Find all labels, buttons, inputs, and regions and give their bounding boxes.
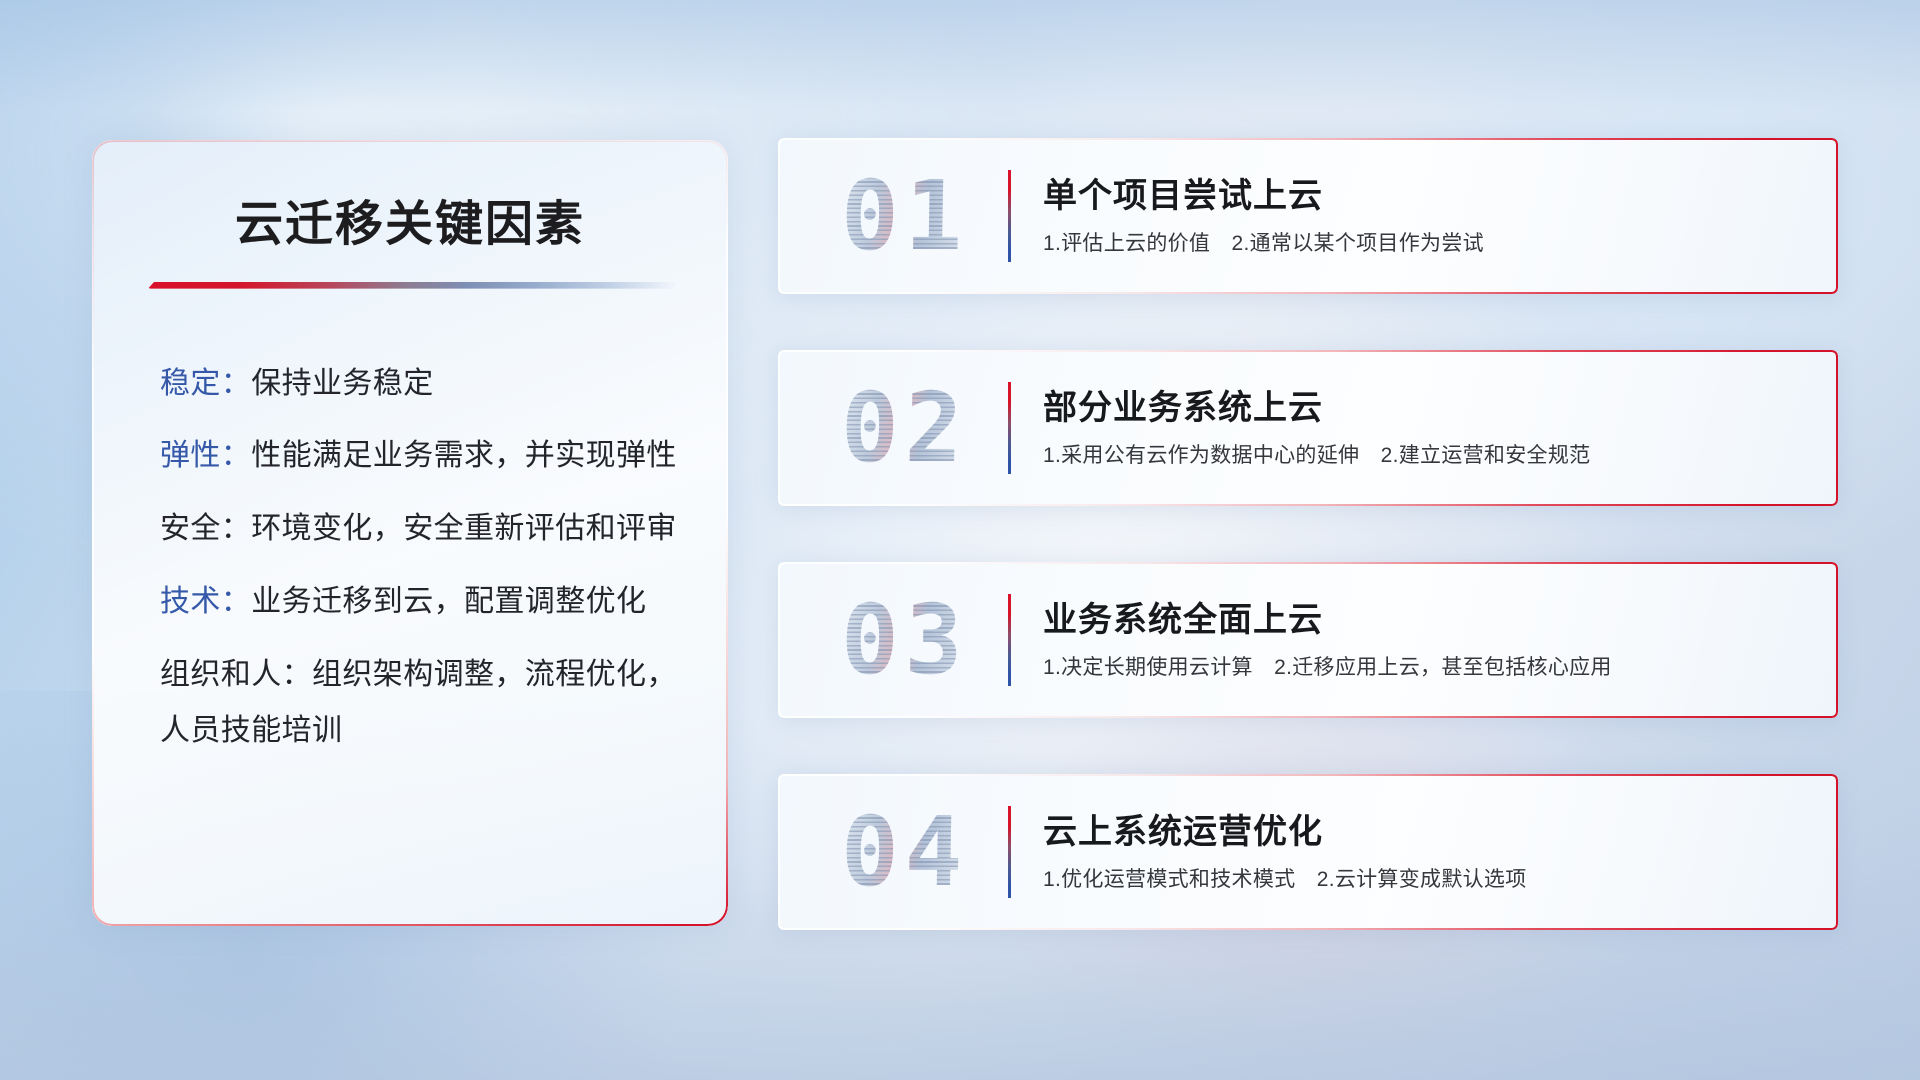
stage-number: 01	[840, 168, 969, 264]
stage-number-container: 01	[778, 168, 1008, 264]
key-factor-label: 安全：	[160, 512, 251, 545]
stage-title: 单个项目尝试上云	[1043, 175, 1808, 218]
key-factor-label: 技术：	[160, 585, 251, 618]
key-factor-label: 稳定：	[160, 367, 251, 400]
background-top-shade	[0, 0, 1920, 108]
migration-stage-card[interactable]: 03业务系统全面上云1.决定长期使用云计算 2.迁移应用上云，甚至包括核心应用	[778, 562, 1838, 718]
stage-text-block: 单个项目尝试上云1.评估上云的价值 2.通常以某个项目作为尝试	[1043, 175, 1838, 258]
stage-description: 1.优化运营模式和技术模式 2.云计算变成默认选项	[1043, 866, 1808, 893]
key-factor-label: 组织和人：	[160, 658, 312, 691]
stage-number-container: 02	[778, 380, 1008, 476]
stage-text-block: 业务系统全面上云1.决定长期使用云计算 2.迁移应用上云，甚至包括核心应用	[1043, 599, 1838, 682]
migration-stage-card[interactable]: 04云上系统运营优化1.优化运营模式和技术模式 2.云计算变成默认选项	[778, 774, 1838, 930]
stage-description: 1.决定长期使用云计算 2.迁移应用上云，甚至包括核心应用	[1043, 654, 1808, 681]
key-factor-value: 环境变化，安全重新评估和评审	[251, 512, 677, 545]
key-factors-panel: 云迁移关键因素 稳定：保持业务稳定弹性：性能满足业务需求，并实现弹性安全：环境变…	[92, 140, 728, 926]
stage-number: 04	[840, 804, 969, 900]
key-factor-label: 弹性：	[160, 439, 251, 472]
migration-stages-list: 01单个项目尝试上云1.评估上云的价值 2.通常以某个项目作为尝试02部分业务系…	[778, 138, 1838, 930]
stage-description: 1.评估上云的价值 2.通常以某个项目作为尝试	[1043, 230, 1808, 257]
key-factor-item: 组织和人：组织架构调整，流程优化，	[160, 656, 678, 694]
key-factor-value: 业务迁移到云，配置调整优化	[251, 585, 646, 618]
stage-accent-divider	[1008, 170, 1011, 262]
stage-accent-divider	[1008, 382, 1011, 474]
stage-text-block: 部分业务系统上云1.采用公有云作为数据中心的延伸 2.建立运营和安全规范	[1043, 387, 1838, 470]
stage-accent-divider	[1008, 594, 1011, 686]
stage-title: 业务系统全面上云	[1043, 599, 1808, 642]
key-factors-list: 稳定：保持业务稳定弹性：性能满足业务需求，并实现弹性安全：环境变化，安全重新评估…	[142, 365, 678, 750]
page-title: 云迁移关键因素	[142, 196, 678, 254]
migration-stage-card[interactable]: 01单个项目尝试上云1.评估上云的价值 2.通常以某个项目作为尝试	[778, 138, 1838, 294]
stage-number: 03	[840, 592, 969, 688]
key-factor-value: 组织架构调整，流程优化，	[312, 658, 677, 691]
stage-number: 02	[840, 380, 969, 476]
key-factor-item: 技术：业务迁移到云，配置调整优化	[160, 583, 678, 621]
stage-number-container: 03	[778, 592, 1008, 688]
key-factor-value-continued: 人员技能培训	[160, 712, 678, 750]
stage-title: 云上系统运营优化	[1043, 811, 1808, 854]
key-factor-item: 安全：环境变化，安全重新评估和评审	[160, 510, 678, 548]
stage-text-block: 云上系统运营优化1.优化运营模式和技术模式 2.云计算变成默认选项	[1043, 811, 1838, 894]
stage-description: 1.采用公有云作为数据中心的延伸 2.建立运营和安全规范	[1043, 442, 1808, 469]
key-factor-value: 性能满足业务需求，并实现弹性	[251, 439, 677, 472]
key-factor-item: 弹性：性能满足业务需求，并实现弹性	[160, 437, 678, 475]
stage-title: 部分业务系统上云	[1043, 387, 1808, 430]
key-factor-item: 稳定：保持业务稳定	[160, 365, 678, 403]
title-underline-gradient	[148, 282, 678, 289]
migration-stage-card[interactable]: 02部分业务系统上云1.采用公有云作为数据中心的延伸 2.建立运营和安全规范	[778, 350, 1838, 506]
key-factor-value: 保持业务稳定	[251, 367, 433, 400]
stage-accent-divider	[1008, 806, 1011, 898]
stage-number-container: 04	[778, 804, 1008, 900]
